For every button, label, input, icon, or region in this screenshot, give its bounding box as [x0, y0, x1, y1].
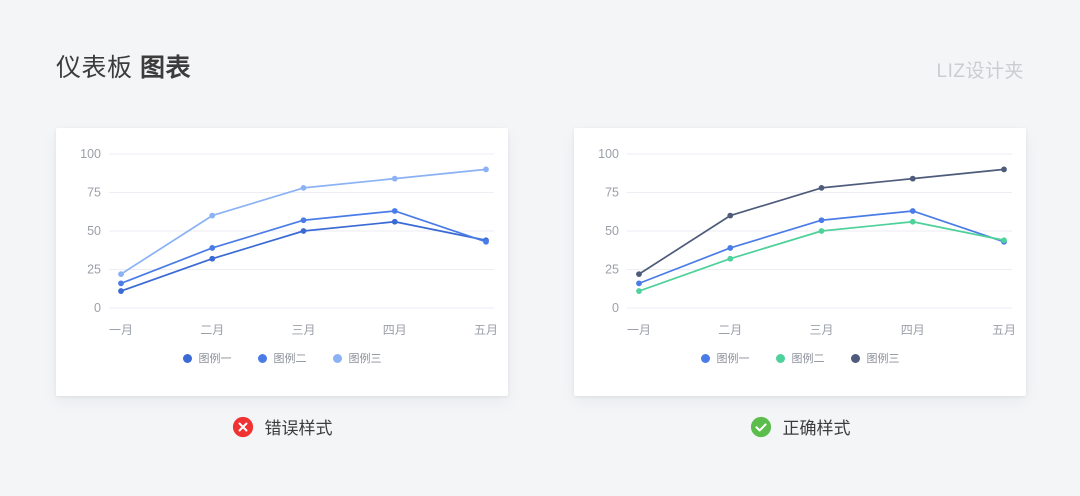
- legend-item-label: 图例二: [792, 350, 825, 366]
- line-chart-svg-good: 0255075100一月二月三月四月五月: [574, 128, 1026, 356]
- y-axis-tick-label: 0: [94, 301, 101, 315]
- y-axis-tick-label: 50: [87, 224, 101, 238]
- legend-color-swatch: [851, 354, 860, 363]
- legend-color-swatch: [776, 354, 785, 363]
- page-title: 仪表板 图表: [56, 48, 191, 84]
- x-axis-tick-label: 一月: [109, 323, 133, 337]
- data-point[interactable]: [1001, 167, 1007, 173]
- legend-item[interactable]: 图例三: [851, 350, 900, 366]
- data-point[interactable]: [209, 213, 215, 219]
- chart-card-bad: 0255075100一月二月三月四月五月 图例一图例二图例三: [56, 128, 508, 396]
- data-point[interactable]: [636, 271, 642, 277]
- legend-item-label: 图例一: [717, 350, 750, 366]
- legend-item[interactable]: 图例三: [333, 350, 382, 366]
- data-point[interactable]: [483, 167, 489, 173]
- data-point[interactable]: [819, 185, 825, 191]
- y-axis-tick-label: 100: [80, 147, 101, 161]
- check-circle-icon: [750, 416, 772, 438]
- data-point[interactable]: [392, 219, 398, 225]
- legend-item-label: 图例三: [867, 350, 900, 366]
- legend-item-label: 图例二: [274, 350, 307, 366]
- data-point[interactable]: [301, 185, 307, 191]
- x-axis-tick-label: 四月: [901, 323, 925, 337]
- x-axis-tick-label: 二月: [200, 323, 224, 337]
- data-point[interactable]: [819, 228, 825, 234]
- caption-bad: 错误样式: [56, 414, 508, 439]
- data-point[interactable]: [727, 256, 733, 262]
- data-point[interactable]: [636, 288, 642, 294]
- x-axis-tick-label: 一月: [627, 323, 651, 337]
- y-axis-tick-label: 75: [87, 186, 101, 200]
- caption-good: 正确样式: [574, 414, 1026, 439]
- caption-good-label: 正确样式: [783, 414, 851, 439]
- data-point[interactable]: [118, 288, 124, 294]
- page-title-bold: 图表: [140, 54, 191, 82]
- legend-item[interactable]: 图例二: [776, 350, 825, 366]
- chart-legend-bad: 图例一图例二图例三: [56, 350, 508, 366]
- data-point[interactable]: [483, 239, 489, 245]
- legend-color-swatch: [333, 354, 342, 363]
- data-point[interactable]: [819, 217, 825, 223]
- legend-item[interactable]: 图例一: [183, 350, 232, 366]
- data-point[interactable]: [392, 176, 398, 182]
- legend-item-label: 图例一: [199, 350, 232, 366]
- x-axis-tick-label: 三月: [809, 323, 833, 337]
- data-point[interactable]: [727, 213, 733, 219]
- legend-color-swatch: [701, 354, 710, 363]
- data-point[interactable]: [1001, 237, 1007, 243]
- legend-color-swatch: [183, 354, 192, 363]
- line-chart-svg-bad: 0255075100一月二月三月四月五月: [56, 128, 508, 356]
- y-axis-tick-label: 25: [87, 263, 101, 277]
- data-point[interactable]: [392, 208, 398, 214]
- data-point[interactable]: [636, 280, 642, 286]
- x-axis-tick-label: 三月: [291, 323, 315, 337]
- legend-item-label: 图例三: [349, 350, 382, 366]
- data-point[interactable]: [301, 217, 307, 223]
- legend-color-swatch: [258, 354, 267, 363]
- x-axis-tick-label: 五月: [474, 323, 498, 337]
- caption-bad-label: 错误样式: [265, 414, 333, 439]
- data-point[interactable]: [910, 176, 916, 182]
- cross-circle-icon: [232, 416, 254, 438]
- chart-card-good: 0255075100一月二月三月四月五月 图例一图例二图例三: [574, 128, 1026, 396]
- page-title-regular: 仪表板: [56, 54, 133, 82]
- data-point[interactable]: [727, 245, 733, 251]
- data-point[interactable]: [209, 256, 215, 262]
- data-point[interactable]: [209, 245, 215, 251]
- data-point[interactable]: [910, 208, 916, 214]
- data-point[interactable]: [910, 219, 916, 225]
- y-axis-tick-label: 75: [605, 186, 619, 200]
- x-axis-tick-label: 五月: [992, 323, 1016, 337]
- data-point[interactable]: [118, 280, 124, 286]
- chart-legend-good: 图例一图例二图例三: [574, 350, 1026, 366]
- data-point[interactable]: [118, 271, 124, 277]
- y-axis-tick-label: 25: [605, 263, 619, 277]
- y-axis-tick-label: 50: [605, 224, 619, 238]
- x-axis-tick-label: 四月: [383, 323, 407, 337]
- legend-item[interactable]: 图例二: [258, 350, 307, 366]
- y-axis-tick-label: 100: [598, 147, 619, 161]
- page-header: 仪表板 图表 LIZ设计夹: [0, 0, 1080, 118]
- data-point[interactable]: [301, 228, 307, 234]
- brand-watermark: LIZ设计夹: [937, 56, 1024, 83]
- x-axis-tick-label: 二月: [718, 323, 742, 337]
- y-axis-tick-label: 0: [612, 301, 619, 315]
- legend-item[interactable]: 图例一: [701, 350, 750, 366]
